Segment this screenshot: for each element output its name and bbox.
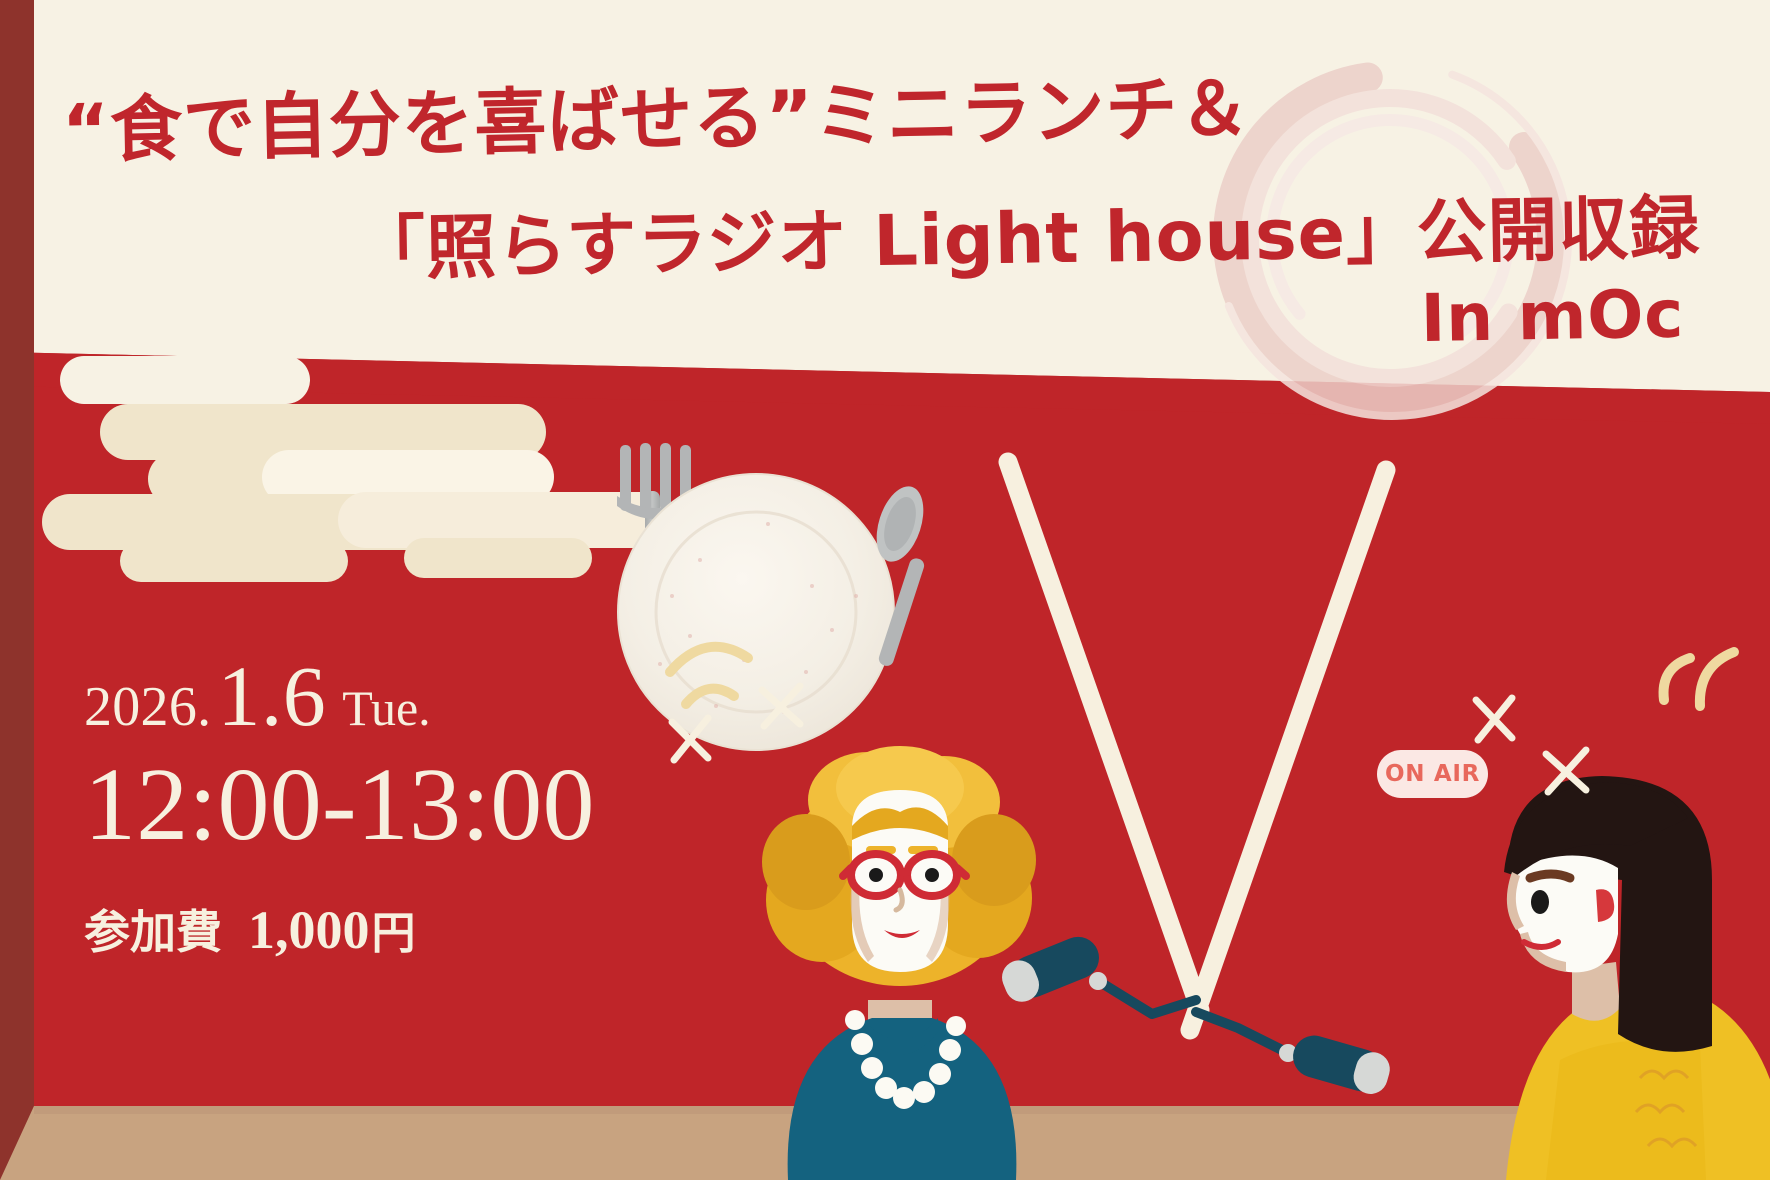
plate-icon xyxy=(618,474,894,750)
flyer-artwork xyxy=(0,0,1770,1180)
on-air-label: ON AIR xyxy=(1385,761,1480,787)
on-air-badge: ON AIR xyxy=(1377,750,1488,798)
left-border-strip xyxy=(0,0,34,1180)
event-flyer: “食で自分を喜ばせる”ミニランチ＆ 「照らすラジオ Light house」公開… xyxy=(0,0,1770,1180)
